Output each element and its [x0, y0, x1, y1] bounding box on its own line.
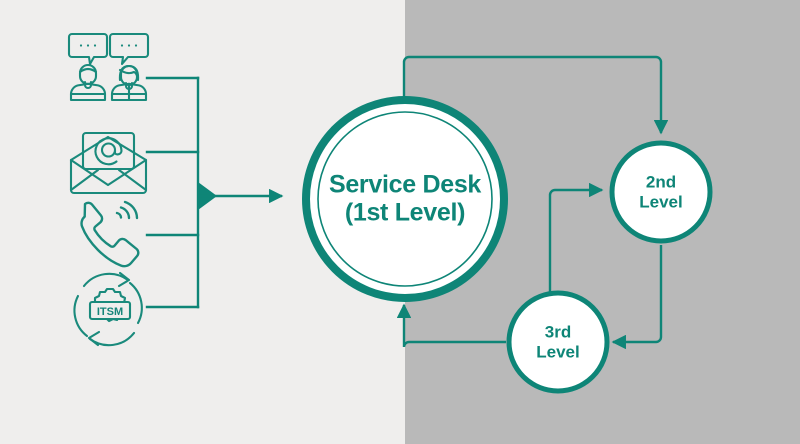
service-desk-label-line2: (1st Level) — [345, 199, 465, 227]
third-level-label-line1: 3rd — [545, 322, 571, 341]
service-desk-label-line1: Service Desk — [329, 171, 481, 199]
node-third-level[interactable]: 3rd Level — [509, 293, 607, 391]
node-second-level[interactable]: 2nd Level — [612, 143, 710, 241]
diagram-canvas: ITSM Service Desk (1st Level) 2nd Lev — [0, 0, 800, 444]
third-level-label-line2: Level — [536, 342, 579, 361]
second-level-label-line2: Level — [639, 192, 682, 211]
node-service-desk[interactable]: Service Desk (1st Level) — [306, 100, 504, 298]
service-desk-escalation-diagram: ITSM Service Desk (1st Level) 2nd Lev — [0, 0, 800, 444]
second-level-label-line1: 2nd — [646, 172, 676, 191]
itsm-icon-label: ITSM — [97, 306, 123, 318]
